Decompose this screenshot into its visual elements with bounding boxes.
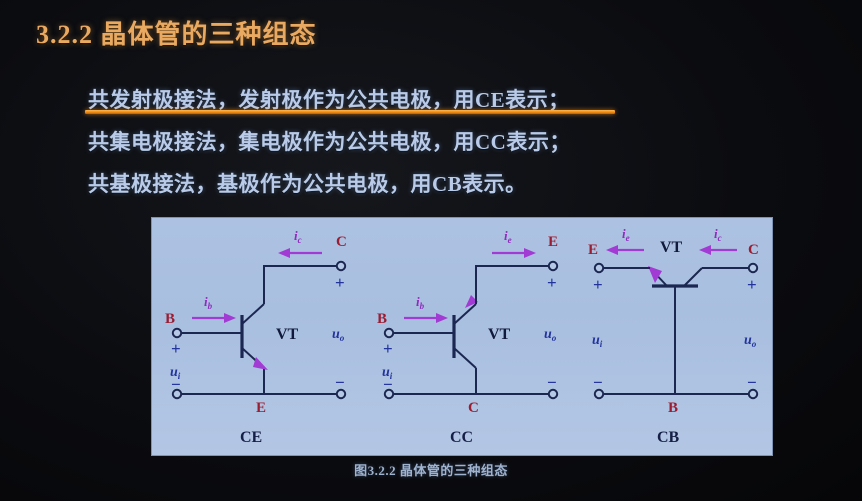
current-label-ib: ib [416, 294, 425, 311]
current-label-ic: ic [714, 226, 722, 243]
sign-plus-ui: + [383, 339, 393, 358]
terminal-label-c: C [748, 242, 759, 258]
terminal-label-e: E [548, 234, 558, 250]
slide-canvas: 3.2.2 晶体管的三种组态 共发射极接法，发射极作为公共电极，用CE表示； 共… [0, 0, 862, 501]
sign-minus-ui: − [383, 375, 393, 394]
sign-minus-uo: − [547, 373, 557, 392]
terminal-label-e: E [588, 242, 598, 258]
body-line-3: 共基极接法，基极作为公共电极，用CB表示。 [88, 168, 527, 198]
config-label-cc: CC [450, 429, 473, 446]
sign-minus-uo: − [747, 373, 757, 392]
config-label-ce: CE [240, 429, 262, 446]
emphasis-underline [85, 110, 615, 114]
current-label-ie: ie [504, 228, 512, 245]
terminal-node-e [549, 262, 557, 270]
terminal-label-b: B [668, 400, 678, 416]
current-label-ic: ic [294, 228, 302, 245]
sign-minus-ui: − [593, 373, 603, 392]
sign-plus-uo: + [547, 273, 557, 292]
device-label-vt: VT [488, 326, 511, 343]
sign-plus-ui: + [593, 275, 603, 294]
terminal-label-c: C [336, 234, 347, 250]
terminal-label-c: C [468, 400, 479, 416]
sign-plus-ui: + [171, 339, 181, 358]
terminal-node-b [173, 329, 181, 337]
sign-minus-ui: − [171, 375, 181, 394]
config-label-cb: CB [657, 429, 680, 446]
terminal-node-c [337, 262, 345, 270]
current-label-ie: ie [622, 226, 630, 243]
terminal-label-b: B [165, 311, 175, 327]
current-label-ib: ib [204, 294, 213, 311]
sign-plus-uo: + [335, 273, 345, 292]
voltage-label-uo: uo [744, 333, 757, 349]
terminal-node-e [595, 264, 603, 272]
figure-panel: B C E VT ib ic + ui − + uo [152, 218, 772, 455]
sign-plus-uo: + [747, 275, 757, 294]
circuit-cb: E C B VT ie ic + ui − + uo − CB [588, 226, 759, 446]
terminal-node-b [385, 329, 393, 337]
device-label-vt: VT [276, 326, 299, 343]
voltage-label-uo: uo [332, 327, 345, 343]
circuit-ce: B C E VT ib ic + ui − + uo [165, 228, 347, 446]
terminal-label-e: E [256, 400, 266, 416]
page-title: 3.2.2 晶体管的三种组态 [36, 14, 317, 51]
terminal-node-c [749, 264, 757, 272]
device-label-vt: VT [660, 239, 683, 256]
body-line-2: 共集电极接法，集电极作为公共电极，用CC表示； [88, 126, 571, 156]
terminal-label-b: B [377, 311, 387, 327]
figure-caption: 图3.2.2 晶体管的三种组态 [0, 460, 862, 479]
voltage-label-uo: uo [544, 327, 557, 343]
voltage-label-ui: ui [592, 333, 603, 349]
sign-minus-uo: − [335, 373, 345, 392]
circuit-cc: B E C VT ib ie + ui − + uo − CC [377, 228, 558, 446]
